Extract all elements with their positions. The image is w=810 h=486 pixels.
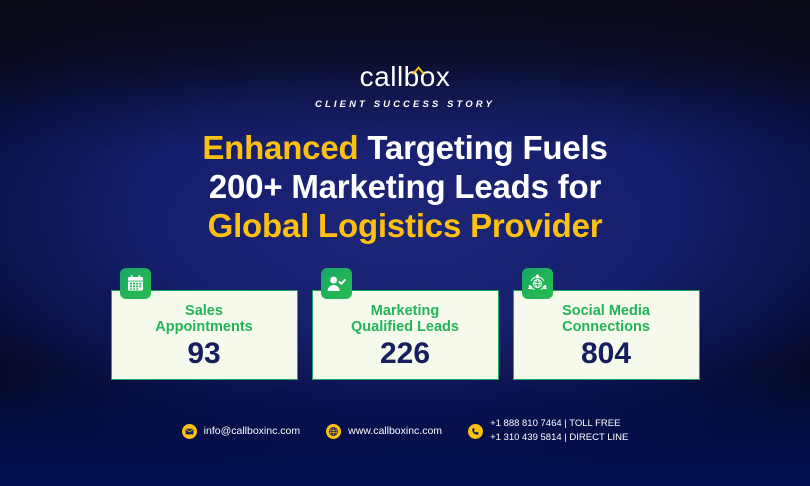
contact-phone-lines: +1 888 810 7464 | TOLL FREE +1 310 439 5… (490, 418, 628, 444)
stat-card-sales-appointments: Sales Appointments 93 (111, 290, 298, 380)
headline-line-1: Enhanced Targeting Fuels (0, 128, 810, 167)
contact-footer: info@callboxinc.com www.callboxinc.c (0, 418, 810, 444)
phone-icon (468, 424, 483, 439)
stat-card-value: 226 (380, 337, 430, 371)
headline-highlight-1: Enhanced (202, 129, 358, 166)
contact-website[interactable]: www.callboxinc.com (326, 424, 442, 439)
stat-card-label: Sales Appointments (155, 303, 252, 335)
brand-logo: callbox CLIENT SUCCESS STORY (0, 62, 810, 110)
logo-tagline: CLIENT SUCCESS STORY (0, 99, 810, 110)
calendar-icon (120, 268, 151, 299)
contact-phone-direct: +1 310 439 5814 | DIRECT LINE (490, 432, 628, 444)
chevron-up-icon (410, 51, 427, 61)
logo-wordmark-wrap: callbox (360, 62, 451, 92)
logo-text: callbox (360, 61, 451, 92)
contact-phone-tollfree: +1 888 810 7464 | TOLL FREE (490, 418, 628, 430)
globe-icon (326, 424, 341, 439)
stat-card-value: 93 (187, 337, 220, 371)
stat-card-value: 804 (581, 337, 631, 371)
contact-phone[interactable]: +1 888 810 7464 | TOLL FREE +1 310 439 5… (468, 418, 628, 444)
contact-email[interactable]: info@callboxinc.com (182, 424, 300, 439)
stat-card-label: Social Media Connections (562, 303, 650, 335)
headline-rest-1: Targeting Fuels (358, 129, 607, 166)
stat-card-social-media-connections: Social Media Connections 804 (513, 290, 700, 380)
social-network-globe-icon (522, 268, 553, 299)
stat-card-label: Marketing Qualified Leads (351, 303, 459, 335)
user-check-icon (321, 268, 352, 299)
envelope-icon (182, 424, 197, 439)
contact-email-text: info@callboxinc.com (204, 425, 300, 438)
headline-line-3: Global Logistics Provider (0, 206, 810, 245)
page-title: Enhanced Targeting Fuels 200+ Marketing … (0, 128, 810, 245)
contact-website-text: www.callboxinc.com (348, 425, 442, 438)
stat-card-list: Sales Appointments 93 Marketing Qualifie… (0, 290, 810, 380)
client-success-story-poster: callbox CLIENT SUCCESS STORY Enhanced Ta… (0, 0, 810, 486)
stat-card-marketing-qualified-leads: Marketing Qualified Leads 226 (312, 290, 499, 380)
headline-line-2: 200+ Marketing Leads for (0, 167, 810, 206)
